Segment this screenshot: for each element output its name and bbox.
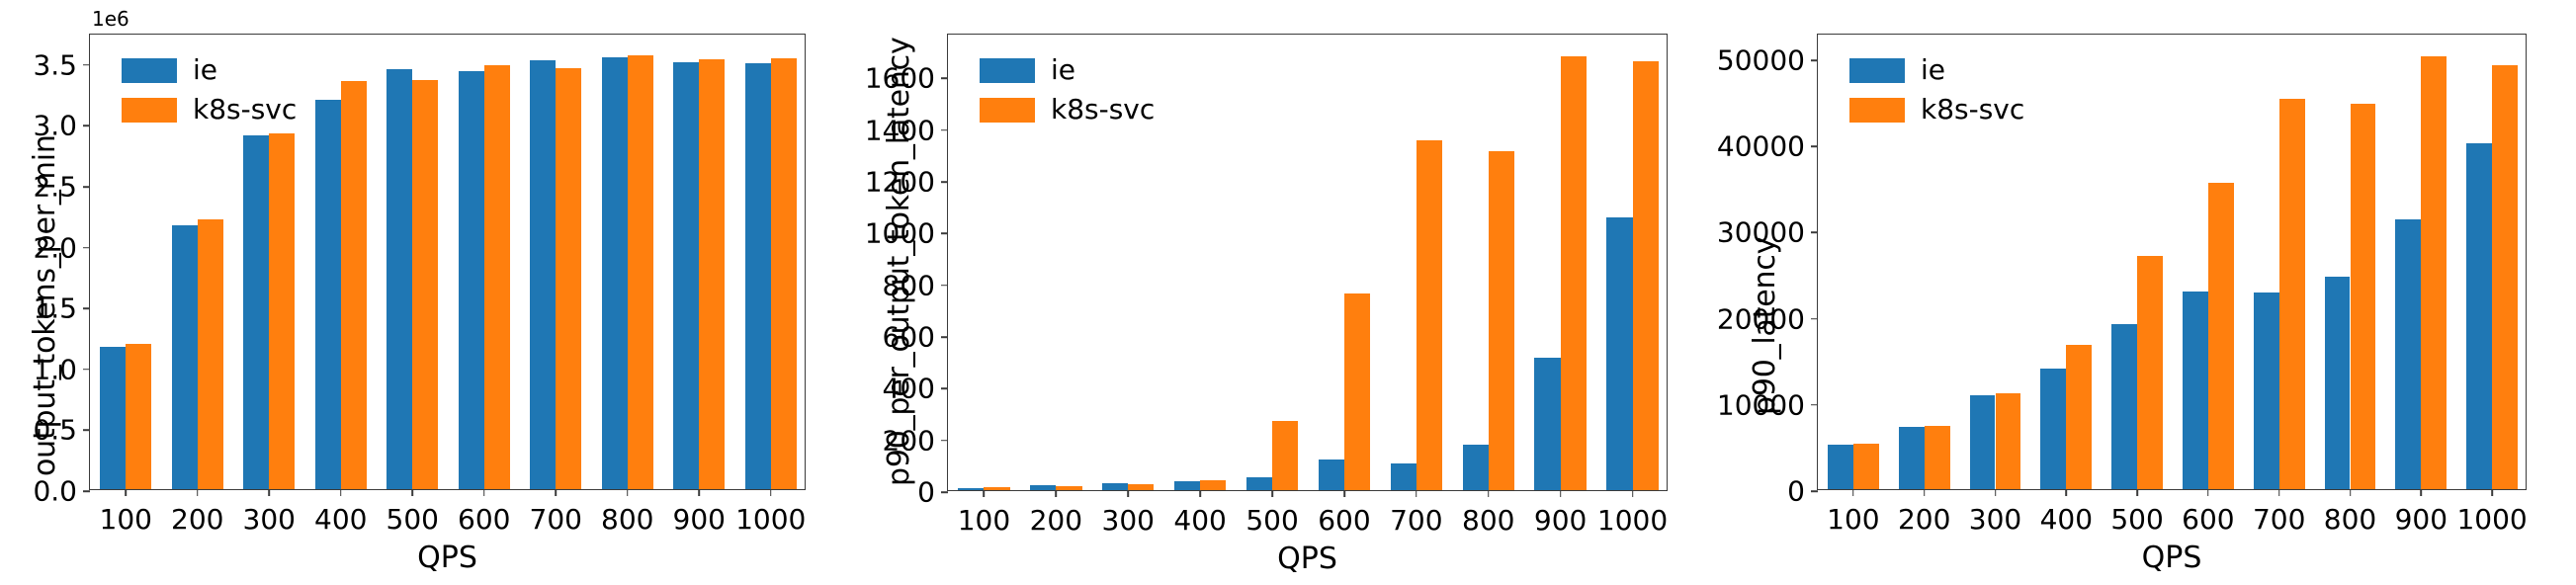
bar-k8s-svc-600: [2208, 183, 2234, 489]
y-tick-mark: [83, 125, 90, 127]
x-tick-mark: [1924, 489, 1926, 496]
x-tick-label: 400: [2040, 503, 2093, 536]
bar-ie-200: [1899, 427, 1925, 489]
x-tick-label: 800: [2324, 503, 2376, 536]
x-tick-mark: [555, 489, 557, 496]
plot-axes-3: 0100002000030000400005000010020030040050…: [1817, 34, 2527, 490]
x-axis-label: QPS: [1277, 542, 1337, 576]
x-tick-label: 800: [601, 503, 653, 536]
bar-ie-400: [315, 100, 341, 489]
y-tick-mark: [941, 78, 948, 80]
x-tick-mark: [197, 489, 199, 496]
y-tick-label: 1600: [865, 62, 948, 95]
x-tick-label: 400: [1173, 504, 1226, 537]
x-tick-mark: [2278, 489, 2280, 496]
y-tick-mark: [941, 336, 948, 338]
bar-k8s-svc-700: [1417, 140, 1442, 490]
y-axis-label: p90_per_output_token_latency: [882, 38, 916, 487]
bar-ie-300: [1102, 483, 1128, 490]
bar-ie-900: [2395, 219, 2421, 489]
x-tick-mark: [1056, 490, 1058, 497]
y-tick-label: 0.5: [33, 414, 90, 447]
y-tick-mark: [83, 64, 90, 66]
y-tick-mark: [1811, 146, 1818, 148]
bar-k8s-svc-400: [341, 81, 367, 489]
bar-k8s-svc-500: [2137, 256, 2163, 489]
x-tick-label: 600: [458, 503, 510, 536]
y-tick-mark: [941, 491, 948, 493]
y-tick-label: 20000: [1717, 302, 1818, 335]
legend-swatch-icon-ie: [1849, 58, 1905, 83]
legend-label: ie: [1921, 56, 1945, 84]
x-tick-label: 1000: [2456, 503, 2527, 536]
bar-ie-1000: [1606, 217, 1632, 490]
x-tick-label: 800: [1462, 504, 1514, 537]
chart-panel-2: p90_per_output_token_latency020040060080…: [860, 0, 1718, 585]
y-tick-label: 1400: [865, 114, 948, 146]
x-tick-label: 300: [243, 503, 296, 536]
legend-swatch-icon-k8s-svc: [980, 98, 1035, 123]
bar-k8s-svc-400: [2066, 345, 2092, 489]
bar-ie-200: [172, 225, 198, 489]
legend-item-k8s-svc[interactable]: k8s-svc: [1849, 96, 2024, 124]
bar-ie-700: [530, 60, 556, 489]
x-tick-label: 600: [1318, 504, 1370, 537]
y-tick-mark: [941, 285, 948, 287]
y-tick-label: 3.0: [33, 110, 90, 142]
bar-k8s-svc-700: [2279, 99, 2305, 489]
x-tick-mark: [1995, 489, 1997, 496]
y-tick-mark: [1811, 318, 1818, 320]
x-tick-mark: [411, 489, 413, 496]
bar-k8s-svc-200: [1056, 486, 1081, 490]
bar-k8s-svc-600: [484, 65, 510, 489]
bar-k8s-svc-900: [2421, 56, 2447, 489]
x-tick-label: 300: [1102, 504, 1155, 537]
x-tick-label: 100: [958, 504, 1010, 537]
bar-ie-400: [2040, 369, 2066, 489]
x-tick-label: 100: [100, 503, 152, 536]
x-tick-mark: [1632, 490, 1634, 497]
chart-legend: iek8s-svc: [1849, 56, 2024, 124]
x-tick-label: 900: [1534, 504, 1587, 537]
y-tick-label: 3.5: [33, 48, 90, 81]
x-tick-mark: [1271, 490, 1273, 497]
bar-k8s-svc-300: [269, 133, 295, 489]
x-tick-label: 200: [1030, 504, 1082, 537]
x-tick-label: 500: [1245, 504, 1298, 537]
x-tick-label: 500: [2110, 503, 2163, 536]
y-tick-mark: [1811, 232, 1818, 234]
x-tick-mark: [1127, 490, 1129, 497]
chart-panel-1: output_tokens_per_min1e60.00.51.01.52.02…: [0, 0, 860, 585]
legend-swatch-icon-ie: [980, 58, 1035, 83]
y-axis-offset-text: 1e6: [92, 7, 129, 31]
y-tick-mark: [941, 440, 948, 442]
bar-ie-500: [2111, 324, 2137, 489]
x-tick-label: 700: [2253, 503, 2305, 536]
x-tick-label: 900: [2395, 503, 2447, 536]
bar-ie-500: [1246, 477, 1272, 490]
x-tick-mark: [1488, 490, 1490, 497]
x-tick-mark: [627, 489, 629, 496]
bar-k8s-svc-900: [699, 59, 725, 489]
y-tick-mark: [941, 181, 948, 183]
x-tick-label: 700: [1390, 504, 1442, 537]
bar-k8s-svc-100: [126, 344, 151, 489]
bar-k8s-svc-500: [412, 80, 438, 489]
bar-k8s-svc-100: [1853, 444, 1879, 489]
x-tick-label: 900: [673, 503, 726, 536]
y-tick-label: 50000: [1717, 44, 1818, 77]
bar-k8s-svc-1000: [2492, 65, 2518, 489]
x-tick-mark: [340, 489, 342, 496]
legend-item-ie[interactable]: ie: [980, 56, 1155, 84]
x-tick-mark: [984, 490, 986, 497]
y-tick-label: 1200: [865, 166, 948, 199]
x-tick-mark: [2136, 489, 2138, 496]
y-tick-mark: [1811, 490, 1818, 492]
bar-ie-300: [243, 135, 269, 490]
y-tick-label: 30000: [1717, 216, 1818, 249]
y-tick-label: 2.5: [33, 171, 90, 204]
legend-item-ie[interactable]: ie: [122, 56, 297, 84]
y-tick-label: 1.5: [33, 292, 90, 325]
x-tick-label: 100: [1827, 503, 1879, 536]
x-tick-label: 400: [314, 503, 367, 536]
y-tick-mark: [83, 490, 90, 492]
legend-label: ie: [1051, 56, 1075, 84]
y-tick-label: 600: [883, 321, 948, 354]
legend-item-ie[interactable]: ie: [1849, 56, 2024, 84]
bar-k8s-svc-700: [556, 68, 581, 489]
bar-ie-600: [2183, 292, 2208, 489]
x-tick-mark: [1199, 490, 1201, 497]
legend-label: k8s-svc: [1921, 96, 2024, 124]
bar-k8s-svc-400: [1200, 480, 1226, 490]
bar-k8s-svc-300: [1128, 484, 1154, 490]
bar-k8s-svc-600: [1344, 293, 1370, 490]
x-tick-mark: [2421, 489, 2423, 496]
x-axis-label: QPS: [2142, 541, 2202, 575]
chart-legend: iek8s-svc: [122, 56, 297, 124]
y-tick-label: 800: [883, 269, 948, 301]
y-tick-mark: [83, 369, 90, 371]
legend-label: k8s-svc: [1051, 96, 1155, 124]
x-tick-label: 200: [171, 503, 223, 536]
y-tick-label: 2.0: [33, 231, 90, 264]
legend-label: ie: [193, 56, 217, 84]
chart-panel-3: p90_latency01000020000300004000050000100…: [1718, 0, 2576, 585]
y-tick-label: 200: [883, 424, 948, 457]
y-tick-mark: [1811, 59, 1818, 61]
bar-ie-100: [100, 347, 126, 489]
x-tick-mark: [770, 489, 772, 496]
x-tick-mark: [2207, 489, 2209, 496]
x-tick-mark: [1343, 490, 1345, 497]
bar-k8s-svc-1000: [771, 58, 797, 489]
x-tick-label: 700: [530, 503, 582, 536]
bar-ie-600: [1319, 460, 1344, 490]
plot-axes-2: 0200400600800100012001400160010020030040…: [947, 34, 1668, 491]
bar-ie-100: [958, 488, 984, 490]
bar-k8s-svc-800: [2351, 104, 2376, 489]
x-tick-mark: [2491, 489, 2493, 496]
legend-item-k8s-svc[interactable]: k8s-svc: [122, 96, 297, 124]
bar-k8s-svc-300: [1996, 393, 2021, 489]
y-tick-label: 1.0: [33, 353, 90, 385]
bar-ie-800: [602, 57, 628, 489]
legend-label: k8s-svc: [193, 96, 297, 124]
bar-k8s-svc-200: [1925, 426, 1950, 490]
legend-item-k8s-svc[interactable]: k8s-svc: [980, 96, 1155, 124]
x-tick-label: 300: [1969, 503, 2021, 536]
bar-ie-300: [1970, 395, 1996, 489]
bar-ie-200: [1030, 485, 1056, 490]
x-tick-mark: [483, 489, 485, 496]
y-tick-mark: [83, 430, 90, 432]
x-tick-mark: [698, 489, 700, 496]
chart-legend: iek8s-svc: [980, 56, 1155, 124]
y-tick-label: 10000: [1717, 388, 1818, 421]
bar-ie-900: [673, 62, 699, 489]
y-tick-mark: [83, 307, 90, 309]
x-tick-mark: [2066, 489, 2068, 496]
bar-ie-600: [459, 71, 484, 489]
x-tick-mark: [1560, 490, 1562, 497]
bar-ie-100: [1828, 445, 1853, 489]
bar-ie-900: [1534, 358, 1560, 490]
plot-axes-1: 1e60.00.51.01.52.02.53.03.51002003004005…: [89, 34, 806, 490]
x-tick-label: 1000: [735, 503, 806, 536]
y-tick-label: 0.0: [33, 475, 90, 508]
x-tick-label: 600: [2182, 503, 2234, 536]
y-tick-mark: [941, 388, 948, 390]
bar-ie-700: [1391, 463, 1417, 490]
x-tick-mark: [1416, 490, 1417, 497]
y-tick-label: 40000: [1717, 130, 1818, 163]
figure-canvas: output_tokens_per_min1e60.00.51.01.52.02…: [0, 0, 2576, 585]
bar-k8s-svc-500: [1272, 421, 1298, 490]
bar-ie-700: [2254, 292, 2279, 489]
bar-ie-800: [2325, 277, 2351, 489]
y-tick-mark: [941, 233, 948, 235]
bar-k8s-svc-200: [198, 219, 223, 490]
bar-ie-500: [386, 69, 412, 489]
y-tick-label: 1000: [865, 217, 948, 250]
bar-ie-1000: [745, 63, 771, 489]
legend-swatch-icon-ie: [122, 58, 177, 83]
x-tick-label: 200: [1898, 503, 1950, 536]
x-tick-mark: [268, 489, 270, 496]
legend-swatch-icon-k8s-svc: [1849, 98, 1905, 123]
bar-ie-800: [1463, 445, 1489, 490]
bar-k8s-svc-800: [628, 55, 653, 489]
bar-k8s-svc-800: [1489, 151, 1514, 490]
y-tick-mark: [941, 129, 948, 131]
x-tick-label: 500: [386, 503, 439, 536]
x-tick-mark: [125, 489, 127, 496]
bar-ie-1000: [2466, 143, 2492, 489]
y-tick-mark: [83, 247, 90, 249]
bar-k8s-svc-900: [1561, 56, 1587, 490]
bar-k8s-svc-1000: [1633, 61, 1659, 490]
legend-swatch-icon-k8s-svc: [122, 98, 177, 123]
y-tick-label: 400: [883, 373, 948, 405]
x-tick-mark: [1852, 489, 1854, 496]
x-tick-mark: [2350, 489, 2352, 496]
x-tick-label: 1000: [1597, 504, 1668, 537]
y-tick-mark: [1811, 404, 1818, 406]
bar-ie-400: [1174, 481, 1200, 490]
bar-k8s-svc-100: [984, 487, 1009, 490]
y-tick-mark: [83, 186, 90, 188]
x-axis-label: QPS: [417, 541, 477, 575]
